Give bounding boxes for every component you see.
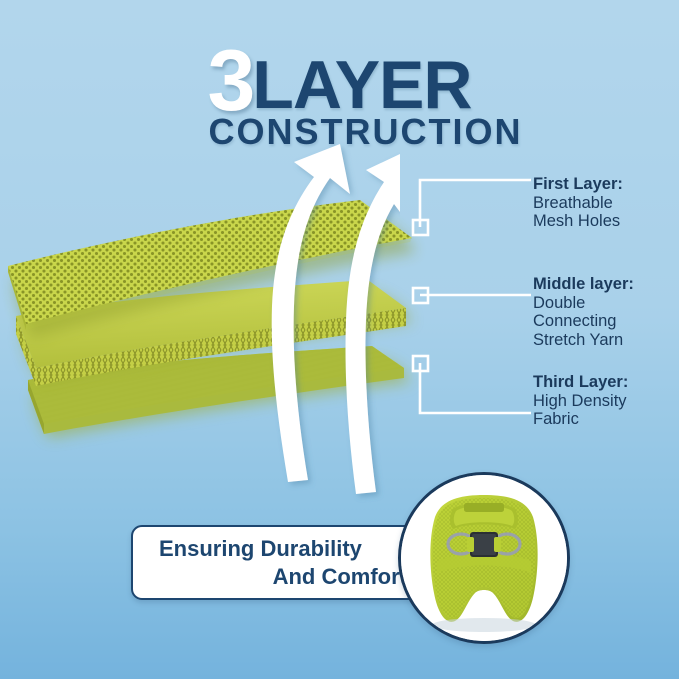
tagline-line-1: Ensuring Durability bbox=[147, 535, 362, 562]
tagline-banner: Ensuring Durability And Comfort bbox=[131, 525, 429, 600]
callout-heading: Middle layer: bbox=[533, 275, 679, 294]
callout-group: First Layer: Breathable Mesh Holes Middl… bbox=[403, 165, 679, 455]
callout-heading: Third Layer: bbox=[533, 373, 679, 392]
title-word-layer: LAYER bbox=[252, 53, 471, 118]
callout-third-layer: Third Layer: High Density Fabric bbox=[533, 373, 679, 429]
airflow-arrows bbox=[190, 120, 400, 510]
callout-line-2: Connecting bbox=[533, 312, 679, 331]
up-arrow-icon-left bbox=[272, 144, 350, 482]
callout-line-1: High Density bbox=[533, 392, 679, 411]
callout-line-2: Mesh Holes bbox=[533, 212, 679, 231]
tagline-line-2: And Comfort bbox=[273, 563, 407, 590]
dog-harness-photo bbox=[398, 472, 570, 644]
infographic-canvas: 3 LAYER CONSTRUCTION bbox=[0, 0, 679, 679]
up-arrow-icon-right bbox=[345, 154, 400, 494]
callout-middle-layer: Middle layer: Double Connecting Stretch … bbox=[533, 275, 679, 350]
callout-line-1: Double bbox=[533, 294, 679, 313]
callout-line-3: Stretch Yarn bbox=[533, 331, 679, 350]
callout-line-1: Breathable bbox=[533, 194, 679, 213]
title-main-row: 3 LAYER bbox=[0, 38, 679, 117]
callout-first-layer: First Layer: Breathable Mesh Holes bbox=[533, 175, 679, 231]
callout-heading: First Layer: bbox=[533, 175, 679, 194]
callout-line-2: Fabric bbox=[533, 410, 679, 429]
title-number: 3 bbox=[207, 42, 252, 121]
